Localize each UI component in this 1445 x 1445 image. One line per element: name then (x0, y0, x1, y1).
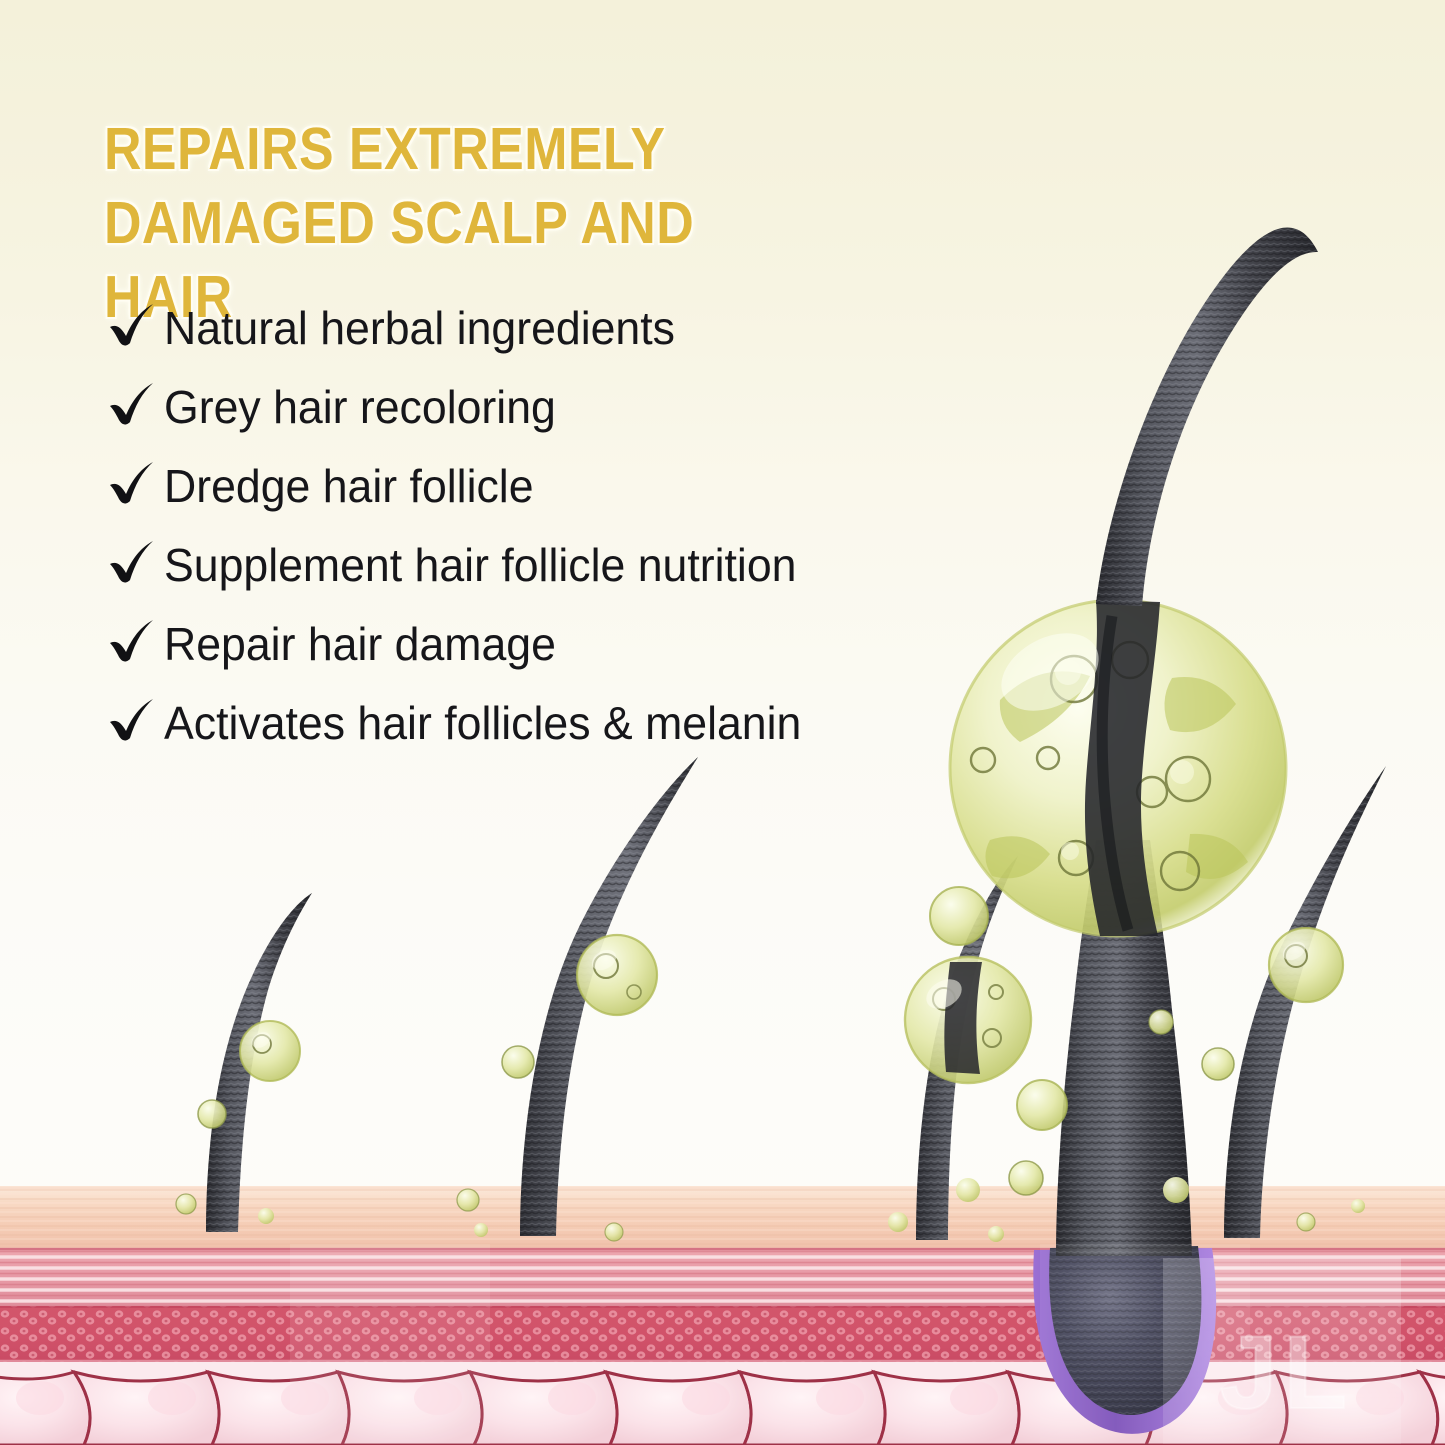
bubble-medium (905, 957, 1031, 1083)
benefit-label: Grey hair recoloring (164, 384, 556, 430)
checkmark-icon (106, 537, 158, 589)
checkmark-icon (106, 300, 158, 352)
list-item: Dredge hair follicle (106, 446, 946, 525)
list-item: Activates hair follicles & melanin (106, 683, 946, 762)
list-item: Supplement hair follicle nutrition (106, 525, 946, 604)
list-item: Natural herbal ingredients (106, 288, 946, 367)
checkmark-icon (106, 379, 158, 431)
bubble-large (950, 600, 1286, 936)
list-item: Repair hair damage (106, 604, 946, 683)
benefit-label: Dredge hair follicle (164, 463, 534, 509)
list-item: Grey hair recoloring (106, 367, 946, 446)
benefits-list: Natural herbal ingredients Grey hair rec… (106, 288, 946, 762)
benefit-label: Repair hair damage (164, 621, 556, 667)
benefit-label: Natural herbal ingredients (164, 305, 675, 351)
checkmark-icon (106, 695, 158, 747)
infographic-canvas: REPAIRS EXTREMELY DAMAGED SCALP AND HAIR… (0, 0, 1445, 1445)
checkmark-icon (106, 458, 158, 510)
benefit-label: Activates hair follicles & melanin (164, 700, 801, 746)
checkmark-icon (106, 616, 158, 668)
benefit-label: Supplement hair follicle nutrition (164, 542, 796, 588)
hair-main-upper-shaft (1096, 228, 1318, 606)
